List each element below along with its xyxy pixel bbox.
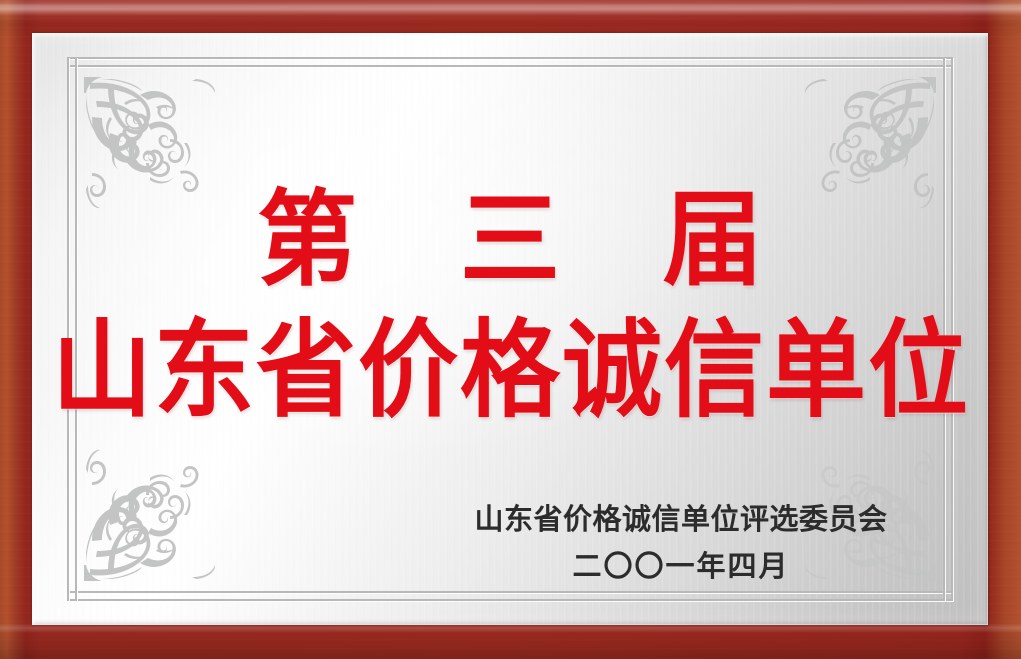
rule-left-inner bbox=[75, 57, 77, 601]
award-plaque: 第 三 届 山东省价格诚信单位 山东省价格诚信单位评选委员会 二〇〇一年四月 bbox=[0, 0, 1021, 659]
rule-right-inner bbox=[943, 57, 945, 601]
rule-left-outer bbox=[67, 57, 69, 601]
corner-flourish-icon-bottom-left bbox=[84, 449, 216, 581]
rule-right-outer bbox=[951, 57, 953, 601]
award-edition-text: 第 三 届 bbox=[32, 181, 988, 297]
corner-flourish-icon-top-left bbox=[84, 77, 216, 209]
award-signature-block: 山东省价格诚信单位评选委员会 二〇〇一年四月 bbox=[471, 499, 891, 586]
corner-flourish-icon-top-right bbox=[804, 77, 936, 209]
engraved-rule-frame bbox=[67, 57, 953, 601]
rule-top-outer bbox=[67, 57, 953, 59]
plaque-content: 第 三 届 山东省价格诚信单位 山东省价格诚信单位评选委员会 二〇〇一年四月 bbox=[32, 33, 988, 625]
rule-top-inner bbox=[67, 65, 953, 67]
corner-flourish-icon-bottom-right bbox=[804, 449, 936, 581]
frame-top-highlight bbox=[0, 3, 1021, 16]
plate-brushed-texture bbox=[32, 33, 988, 625]
metal-plate: 第 三 届 山东省价格诚信单位 山东省价格诚信单位评选委员会 二〇〇一年四月 bbox=[32, 33, 988, 625]
rule-bottom-inner bbox=[67, 591, 953, 593]
plate-light-glow bbox=[32, 33, 988, 625]
award-issuer-text: 山东省价格诚信单位评选委员会 bbox=[471, 499, 891, 539]
plate-bevel bbox=[32, 33, 988, 625]
award-date-text: 二〇〇一年四月 bbox=[471, 546, 891, 586]
rule-bottom-outer bbox=[67, 599, 953, 601]
award-title-text: 山东省价格诚信单位 bbox=[32, 307, 988, 432]
